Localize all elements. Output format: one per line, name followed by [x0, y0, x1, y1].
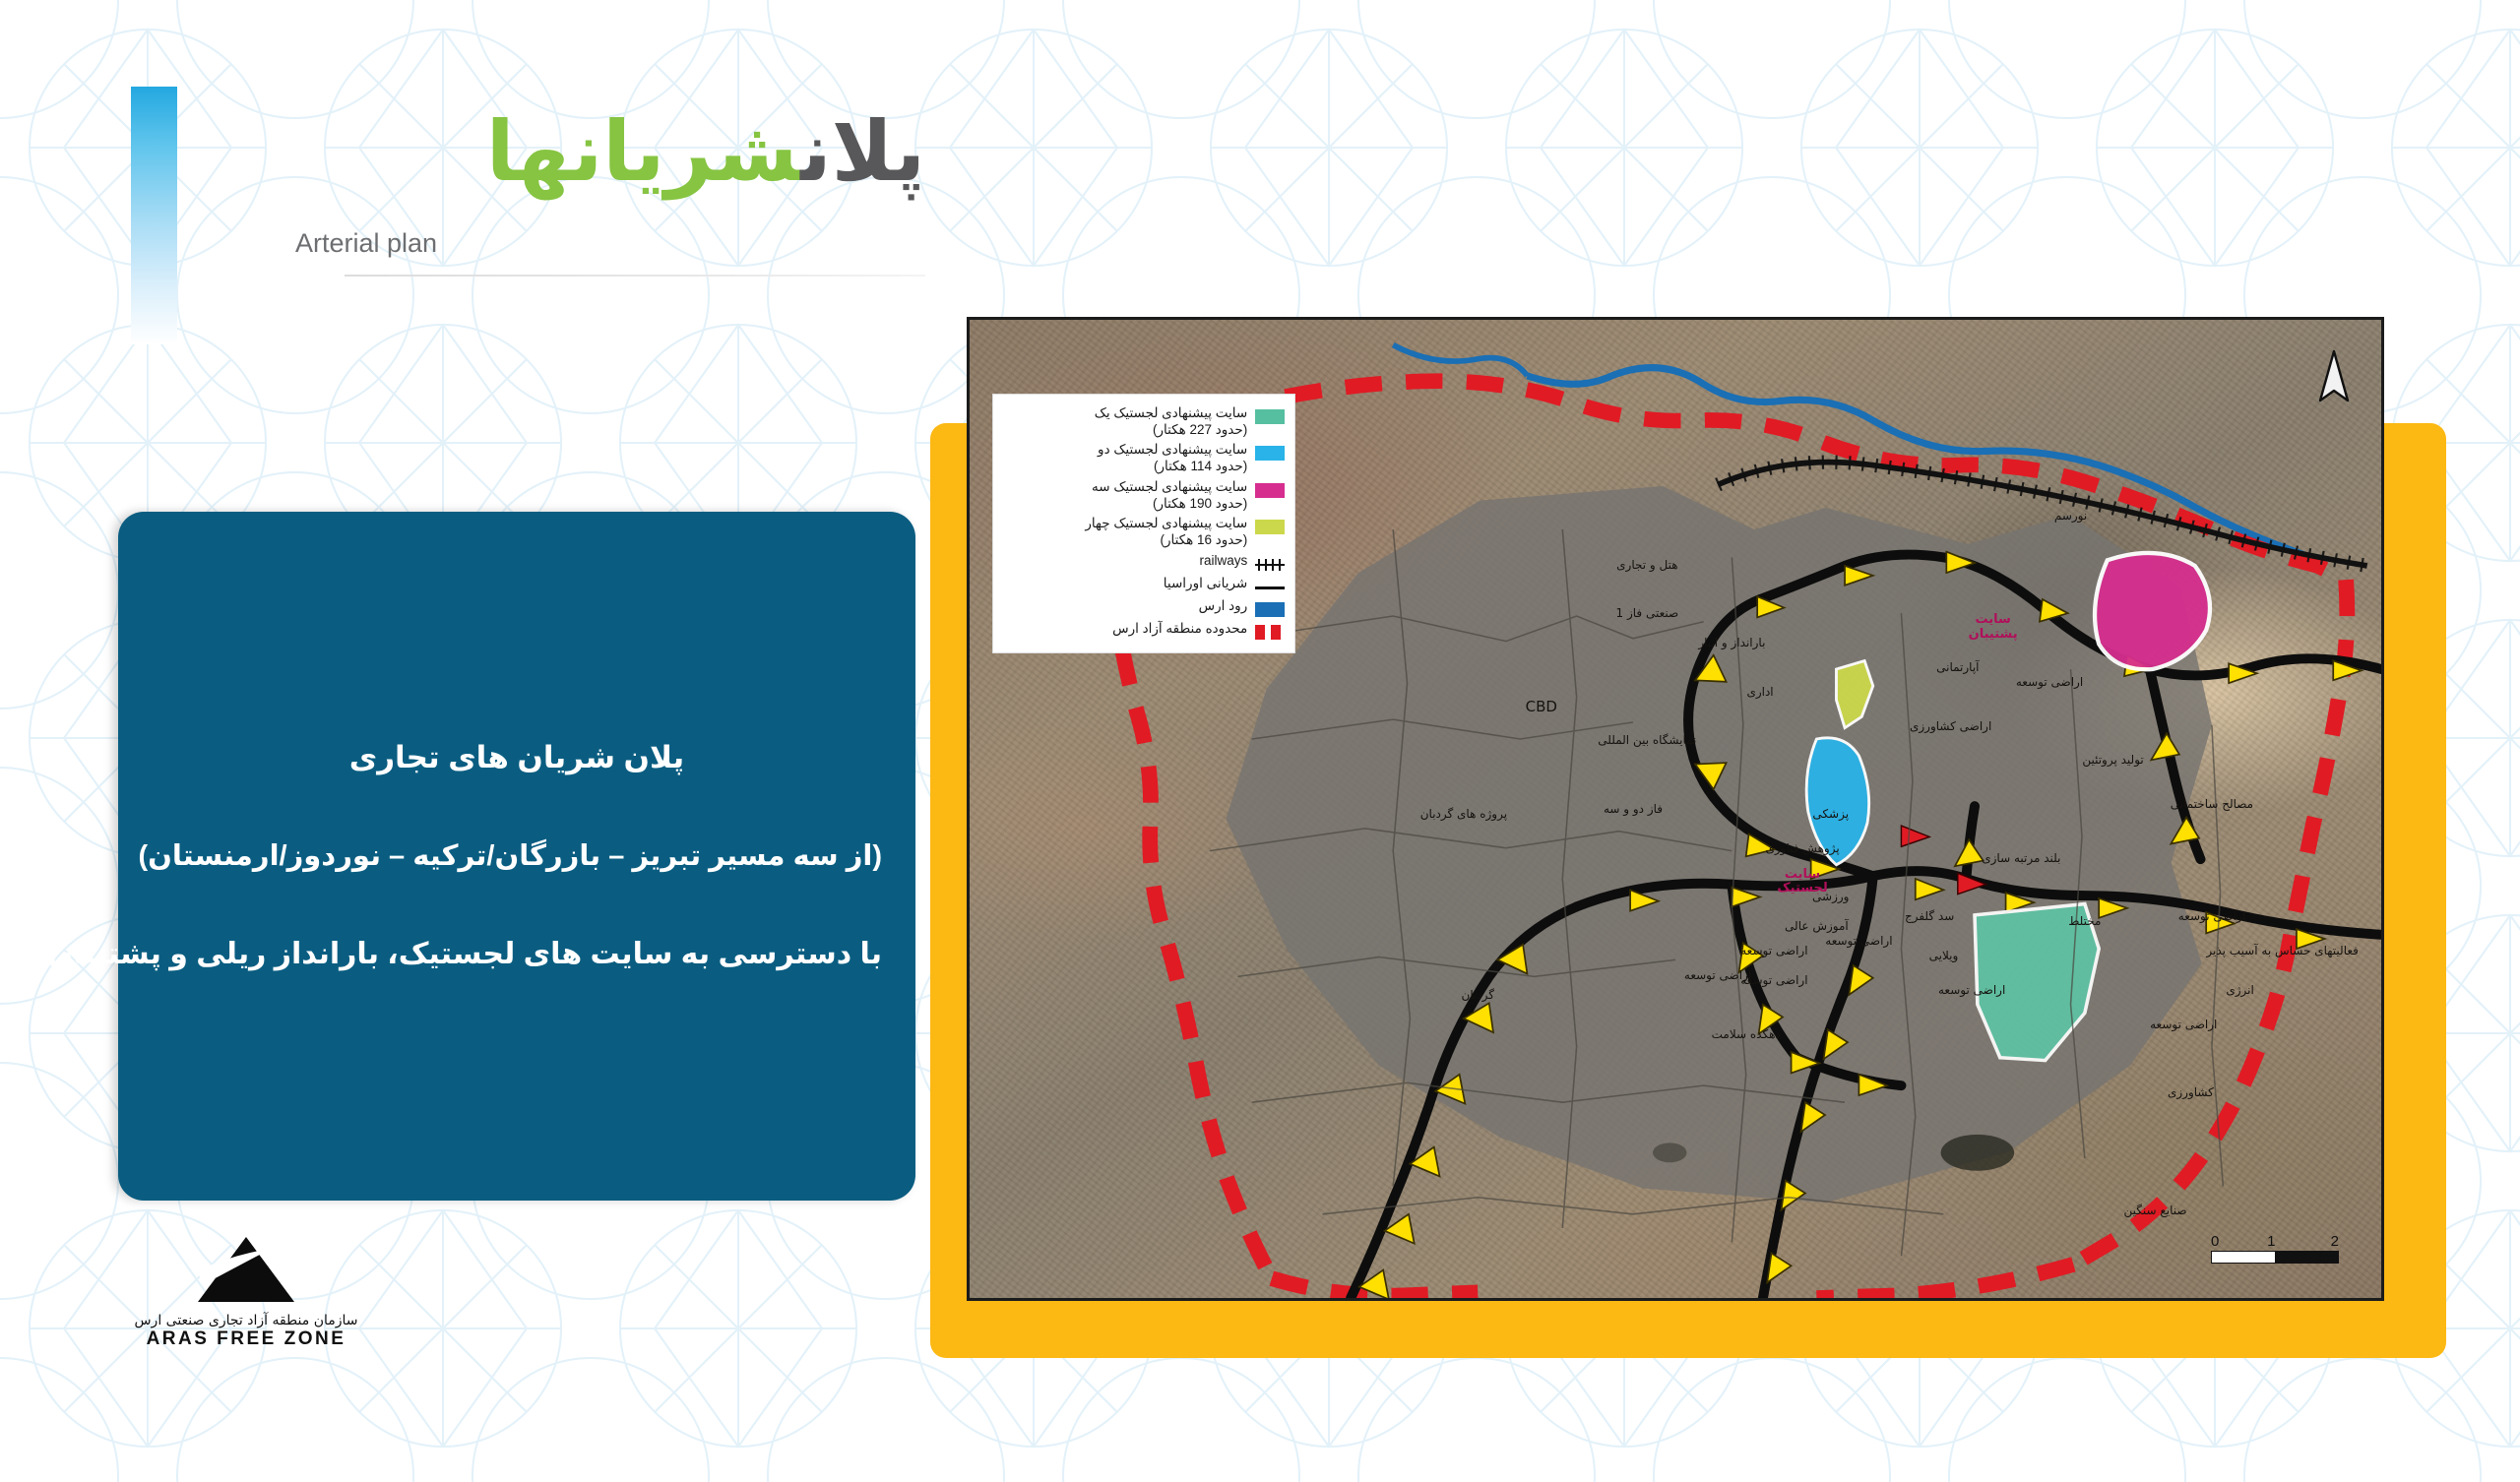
legend-swatch-icon — [1255, 520, 1285, 534]
map-legend: سایت پیشنهادی لجستیک یک(حدود 227 هکتار)س… — [992, 394, 1295, 653]
caption-card: پلان شریان های تجاری (از سه مسیر تبریز –… — [118, 512, 915, 1201]
map-label-14: سد گلفرج — [1905, 909, 1954, 923]
scale-0: 0 — [2211, 1233, 2219, 1250]
legend-swatch-icon — [1255, 409, 1285, 424]
map-label-6: اراضی توسعه — [2178, 909, 2245, 923]
arterial-line-icon — [1255, 580, 1285, 594]
legend-label: railways — [1199, 552, 1247, 569]
legend-hectare: (حدود 227 هکتار) — [1095, 421, 1248, 438]
map-label-10: کشاورزی — [2168, 1085, 2214, 1099]
map-label-latin-0: CBD — [1526, 698, 1557, 715]
legend-row-7: محدوده منطقه آزاد ارس — [1003, 620, 1285, 640]
legend-label: سایت پیشنهادی لجستیک سه(حدود 190 هکتار) — [1092, 478, 1247, 513]
map-label-2: آپارتمانی — [1936, 660, 1979, 674]
map-label-21: اراضی توسعه — [1825, 934, 1892, 948]
scale-2: 2 km — [2308, 1233, 2339, 1266]
map-label-13: مختلط — [2068, 914, 2101, 928]
map-label-22: اراضی توسعه — [1740, 944, 1807, 957]
map-label-16: اراضی توسعه — [1938, 983, 2005, 997]
legend-hectare: (حدود 114 هکتار) — [1098, 458, 1247, 474]
page-subtitle: Arterial plan — [295, 228, 925, 259]
legend-hectare: (حدود 190 هکتار) — [1092, 495, 1247, 512]
legend-label: محدوده منطقه آزاد ارس — [1112, 620, 1247, 637]
legend-label: سایت پیشنهادی لجستیک یک(حدود 227 هکتار) — [1095, 404, 1248, 439]
caption-line-2: (از سه مسیر تبریز – بازرگان/ترکیه – نورد… — [152, 837, 882, 876]
accent-gradient-bar — [131, 87, 177, 344]
title-block: پلانشریانها Arterial plan — [295, 108, 925, 277]
map-label-18: پژوهش فناوری — [1765, 841, 1839, 855]
map-label-5: مصالح ساختمانی — [2171, 797, 2253, 811]
map-label-15: ویلایی — [1929, 949, 1959, 962]
legend-swatch-icon — [1255, 446, 1285, 461]
map-scalebar: 0 1 2 km — [2211, 1233, 2339, 1264]
map-label-26: بارانداز و انبار — [1698, 636, 1765, 649]
map-label-20: آموزش عالی — [1785, 919, 1849, 933]
legend-row-1: سایت پیشنهادی لجستیک دو(حدود 114 هکتار) — [1003, 441, 1285, 475]
map-label-9: اراضی توسعه — [2150, 1018, 2217, 1031]
map-label-4: تولید پروتئین — [2082, 753, 2143, 767]
scale-1: 1 — [2267, 1233, 2275, 1250]
map-label-0: نورسم — [2054, 509, 2087, 523]
legend-label: سایت پیشنهادی لجستیک دو(حدود 114 هکتار) — [1098, 441, 1247, 475]
map-label-28: صنعتی فاز 1 — [1615, 606, 1678, 620]
aras-free-zone-logo: سازمان منطقه آزاد تجاری صنعتی ارس ARAS F… — [118, 1235, 374, 1350]
map-label-25: دهکده سلامت — [1712, 1027, 1781, 1041]
legend-row-3: سایت پیشنهادی لجستیک چهار(حدود 16 هکتار) — [1003, 515, 1285, 549]
map-label-7: فعالیتهای حساس به آسیب پذیر — [2206, 944, 2359, 957]
legend-row-0: سایت پیشنهادی لجستیک یک(حدود 227 هکتار) — [1003, 404, 1285, 439]
page-title-dark: پلان — [800, 105, 925, 198]
map-label-30: نمایشگاه بین المللی — [1598, 733, 1696, 747]
title-divider — [345, 275, 925, 277]
site-label-line1: سایت — [1777, 868, 1827, 883]
site-label-line1: سایت — [1969, 613, 2018, 628]
north-arrow-icon — [2318, 349, 2350, 406]
legend-row-4: railways — [1003, 552, 1285, 572]
map-label-33: گردبان — [1462, 988, 1495, 1002]
map-label-32: پروژه های گردبان — [1420, 807, 1507, 821]
page-title: پلانشریانها — [295, 108, 925, 195]
legend-swatch-icon — [1255, 483, 1285, 498]
site-label-line2: لجستیک — [1777, 883, 1827, 897]
map-label-17: پزشکی — [1812, 807, 1849, 821]
legend-hectare: (حدود 16 هکتار) — [1085, 531, 1247, 548]
map-site-label-0: سایتپشتیبان — [1969, 613, 2018, 643]
map-label-11: صنایع سنگین — [2124, 1204, 2187, 1217]
logo-persian-name: سازمان منطقه آزاد تجاری صنعتی ارس — [118, 1313, 374, 1328]
site-label-line2: پشتیبان — [1969, 628, 2018, 643]
boundary-dash-icon — [1255, 625, 1285, 640]
legend-label: رود ارس — [1199, 597, 1248, 614]
page-title-green: شریانها — [486, 105, 800, 198]
map-label-1: اراضی توسعه — [2016, 675, 2083, 689]
legend-row-6: رود ارس — [1003, 597, 1285, 617]
legend-swatch-icon — [1255, 602, 1285, 617]
railway-line-icon — [1255, 557, 1285, 572]
caption-line-1: پلان شریان های تجاری — [152, 737, 882, 778]
map-label-29: هتل و تجاری — [1616, 558, 1677, 572]
mountain-logo-icon — [192, 1235, 300, 1306]
legend-label: سایت پیشنهادی لجستیک چهار(حدود 16 هکتار) — [1085, 515, 1247, 549]
legend-row-2: سایت پیشنهادی لجستیک سه(حدود 190 هکتار) — [1003, 478, 1285, 513]
map-label-24: اراضی توسعه — [1740, 973, 1807, 987]
map-image[interactable]: سایت پیشنهادی لجستیک یک(حدود 227 هکتار)س… — [967, 317, 2384, 1301]
caption-line-3: با دسترسی به سایت های لجستیک، بارانداز ر… — [152, 935, 882, 975]
map-label-8: انرژی — [2226, 983, 2253, 997]
logo-english-name: ARAS FREE ZONE — [118, 1328, 374, 1350]
map-label-27: اداری — [1746, 685, 1773, 699]
legend-row-5: شریانی اوراسیا — [1003, 575, 1285, 594]
map-label-3: اراضی کشاورزی — [1910, 719, 1991, 733]
map-label-12: بلند مرتبه سازی — [1982, 851, 2060, 865]
map-label-31: فاز دو و سه — [1604, 802, 1663, 816]
legend-label: شریانی اوراسیا — [1164, 575, 1247, 591]
map-site-label-1: سایتلجستیک — [1777, 868, 1827, 897]
